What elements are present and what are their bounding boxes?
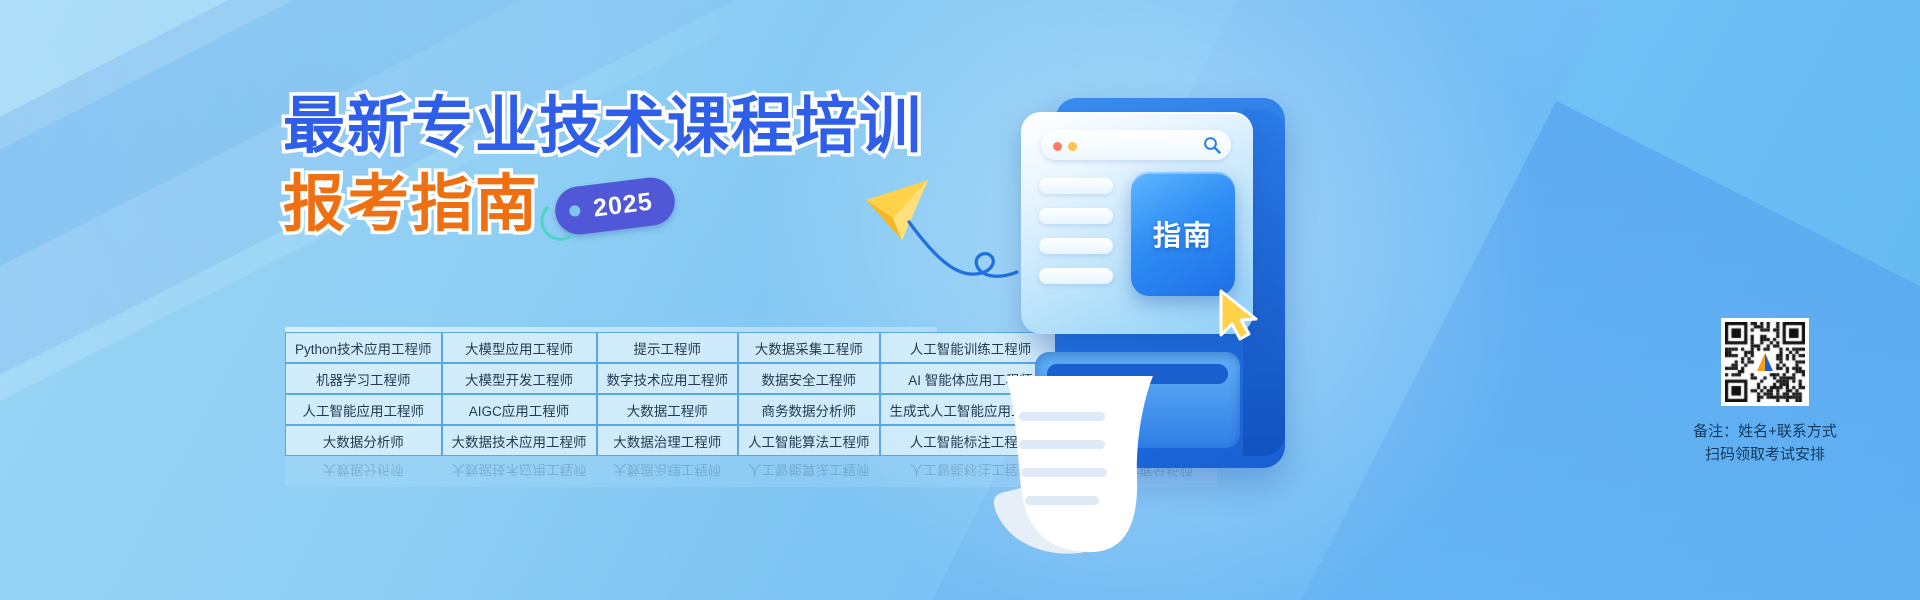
banner-title-line1: 最新专业技术课程培训: [283, 96, 923, 158]
background-stripe: [0, 0, 724, 577]
receipt-paper-icon: [985, 368, 1160, 558]
qr-code-icon[interactable]: [1721, 318, 1809, 406]
course-cell[interactable]: AIGC应用工程师: [442, 394, 597, 425]
course-cell[interactable]: 大数据治理工程师: [597, 425, 739, 456]
course-cell[interactable]: 提示工程师: [597, 332, 739, 363]
guide-button[interactable]: 指南: [1131, 172, 1235, 296]
course-cell[interactable]: 大数据采集工程师: [738, 332, 880, 363]
guide-button-label: 指南: [1153, 214, 1213, 254]
headline-group: 最新专业技术课程培训 报考指南 2025: [283, 96, 923, 236]
qr-center-logo: [1754, 351, 1776, 373]
device-illustration: 指南: [975, 70, 1305, 500]
promo-banner: 最新专业技术课程培训 报考指南 2025 Python技术应用工程师大模型应用工…: [0, 0, 1920, 600]
course-cell[interactable]: 大模型开发工程师: [442, 363, 597, 394]
qr-note-line1: 备注：姓名+联系方式: [1650, 420, 1880, 443]
course-cell-reflection: 人工智能算法工程师: [738, 456, 880, 487]
course-cell-reflection: 大数据分析师: [285, 456, 442, 487]
course-cell[interactable]: 大数据工程师: [597, 394, 739, 425]
course-cell[interactable]: 大模型应用工程师: [442, 332, 597, 363]
qr-note-line2: 扫码领取考试安排: [1650, 443, 1880, 466]
content-line: [1039, 238, 1113, 254]
course-cell[interactable]: 人工智能应用工程师: [285, 394, 442, 425]
year-badge: 2025: [553, 175, 678, 237]
search-bar[interactable]: [1041, 130, 1231, 160]
year-badge-label: 2025: [592, 187, 655, 223]
window-dot-yellow: [1068, 142, 1077, 151]
banner-title-line2: 报考指南: [283, 174, 539, 236]
course-cell[interactable]: 人工智能算法工程师: [738, 425, 880, 456]
qr-note: 备注：姓名+联系方式 扫码领取考试安排: [1650, 420, 1880, 467]
course-cell[interactable]: 数据安全工程师: [738, 363, 880, 394]
course-cell[interactable]: 商务数据分析师: [738, 394, 880, 425]
background-stripe: [0, 179, 139, 600]
course-cell[interactable]: 大数据技术应用工程师: [442, 425, 597, 456]
course-cell[interactable]: 数字技术应用工程师: [597, 363, 739, 394]
window-dot-red: [1053, 142, 1062, 151]
course-cell-reflection: 大数据技术应用工程师: [442, 456, 597, 487]
content-line: [1039, 268, 1113, 284]
content-line: [1039, 178, 1113, 194]
course-cell[interactable]: Python技术应用工程师: [285, 332, 442, 363]
course-cell-reflection: 大数据治理工程师: [597, 456, 739, 487]
cursor-arrow-icon: [1215, 288, 1261, 342]
course-cell[interactable]: 机器学习工程师: [285, 363, 442, 394]
search-icon[interactable]: [1203, 136, 1221, 154]
course-cell[interactable]: 大数据分析师: [285, 425, 442, 456]
content-line: [1039, 208, 1113, 224]
qr-block: 备注：姓名+联系方式 扫码领取考试安排: [1650, 318, 1880, 467]
banner-subtitle-row: 报考指南 2025: [283, 174, 923, 236]
